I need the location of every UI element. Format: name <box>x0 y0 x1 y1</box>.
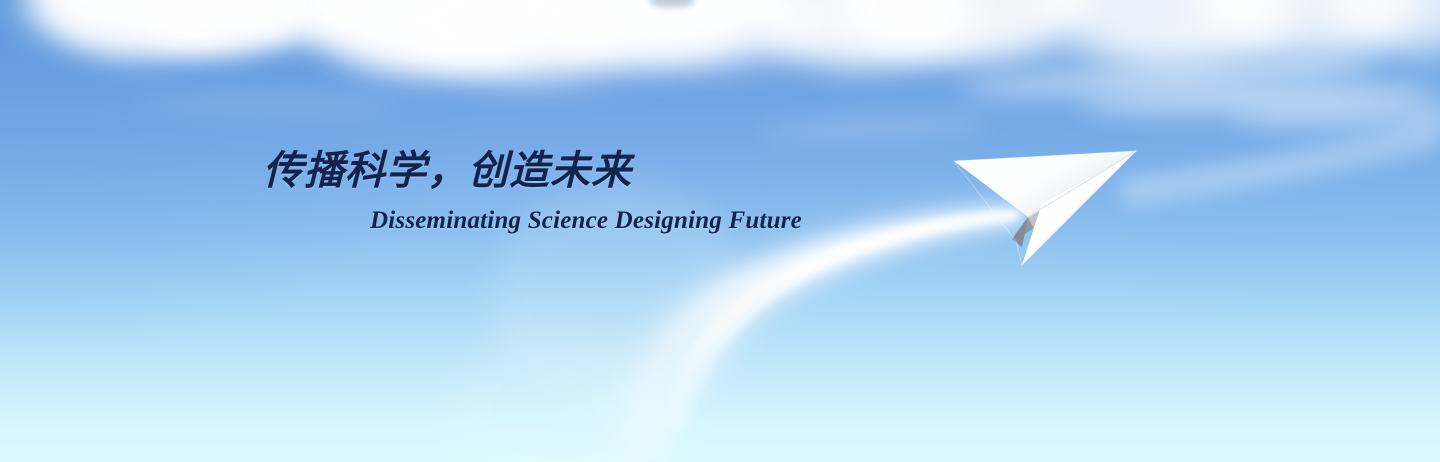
page-title-chinese: 传播科学，创造未来 <box>263 149 632 194</box>
page-subtitle-english: Disseminating Science Designing Future <box>370 207 802 235</box>
hero-banner: 传播科学，创造未来 Disseminating Science Designin… <box>0 0 1440 462</box>
paper-airplane-icon <box>950 143 1150 275</box>
